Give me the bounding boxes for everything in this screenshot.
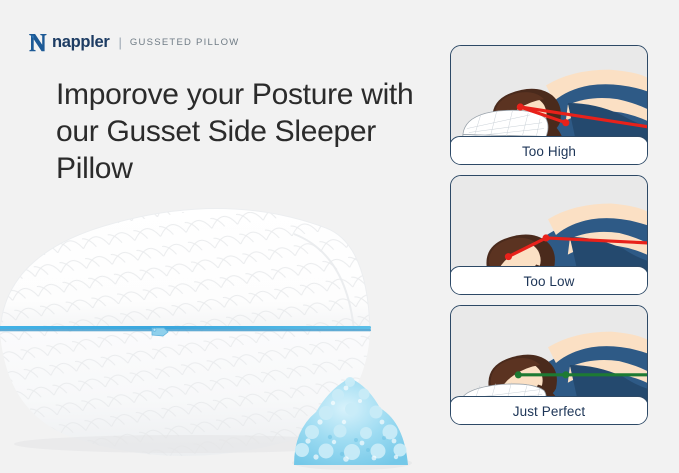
nappler-n-logo-icon <box>28 32 52 53</box>
panel-label-just-perfect: Just Perfect <box>450 396 648 425</box>
panel-label-too-low: Too Low <box>450 266 648 295</box>
hero-product-image <box>0 182 446 472</box>
brand-tagline: GUSSETED PILLOW <box>130 37 240 48</box>
page-title: Imporove your Posture with our Gusset Si… <box>56 76 436 188</box>
promo-banner: nappler | GUSSETED PILLOW Imporove your … <box>0 0 679 473</box>
panel-too-high[interactable]: Too High <box>450 45 648 165</box>
panel-just-perfect[interactable]: Just Perfect <box>450 305 648 425</box>
panel-label-too-high: Too High <box>450 136 648 165</box>
brand-separator: | <box>119 35 122 50</box>
posture-comparison-panels: Too High <box>450 45 648 425</box>
brand-lockup: nappler | GUSSETED PILLOW <box>28 31 239 53</box>
brand-name: nappler <box>52 34 110 51</box>
panel-too-low[interactable]: Too Low <box>450 175 648 295</box>
